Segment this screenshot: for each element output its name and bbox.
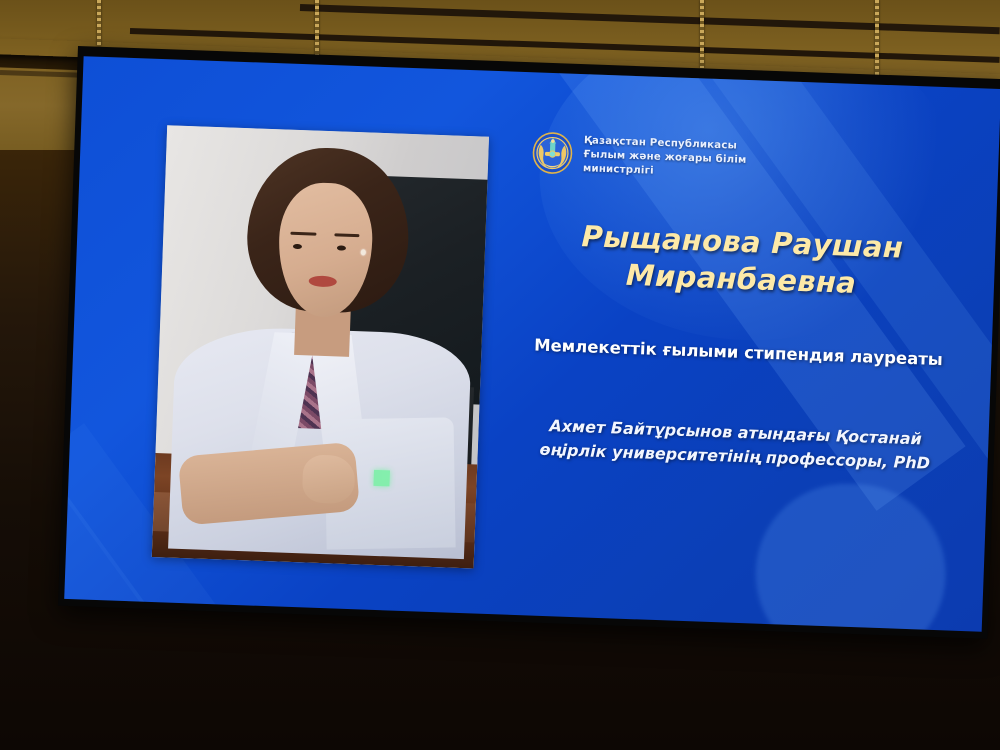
conference-room-scene: Қазақстан Республикасы Ғылым және жоғары… — [0, 0, 1000, 750]
hanging-chain — [315, 0, 319, 56]
hanging-chain — [875, 0, 879, 78]
hanging-chain — [97, 0, 101, 46]
hanging-chain — [700, 0, 704, 68]
portrait-photo — [152, 125, 489, 568]
person-name: Рыщанова Раушан Миранбаевна — [506, 216, 978, 307]
ministry-name: Қазақстан Республикасы Ғылым және жоғары… — [583, 130, 748, 182]
kazakhstan-coat-of-arms-icon — [530, 128, 576, 176]
projection-screen: Қазақстан Республикасы Ғылым және жоғары… — [58, 46, 1000, 639]
affiliation: Ахмет Байтұрсынов атындағы Қостанай өңір… — [499, 412, 970, 477]
award-title: Мемлекеттік ғылыми стипендия лауреаты — [503, 334, 973, 373]
photo-hand — [302, 454, 355, 503]
decorative-pill — [752, 481, 948, 632]
photo-watermark — [373, 470, 390, 487]
photo-earring — [361, 249, 366, 255]
slide-text-column: Қазақстан Республикасы Ғылым және жоғары… — [499, 128, 981, 477]
presentation-slide: Қазақстан Республикасы Ғылым және жоғары… — [64, 56, 1000, 631]
